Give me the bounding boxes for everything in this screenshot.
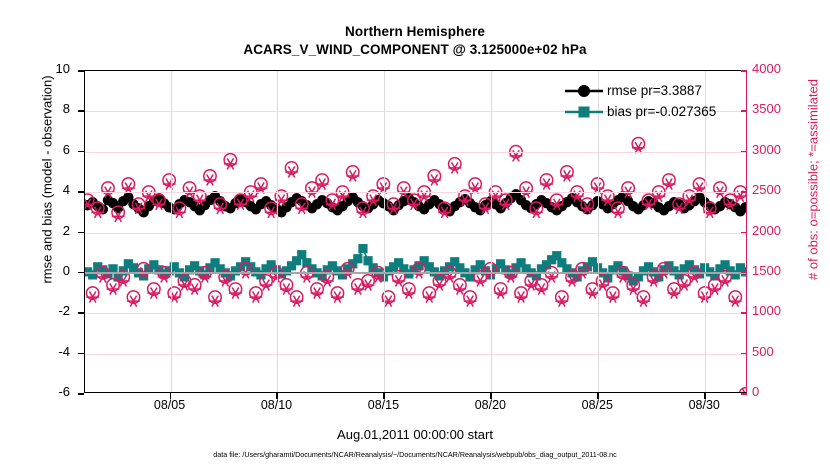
zero-reference-line <box>85 272 746 274</box>
gridline-horizontal <box>85 152 746 153</box>
y-tick-mark-left <box>78 393 84 395</box>
y-tick-label-left: -4 <box>28 344 70 359</box>
x-tick-label: 08/10 <box>246 398 306 412</box>
gridline-horizontal <box>85 313 746 314</box>
y-tick-label-left: 0 <box>28 263 70 278</box>
gridline-vertical <box>491 71 492 392</box>
y-tick-label-left: 6 <box>28 142 70 157</box>
y-axis-label-right: # of obs: o=possible; *=assimilated <box>806 15 821 345</box>
y-tick-mark-right <box>741 70 747 72</box>
y-tick-label-left: -6 <box>28 384 70 399</box>
gridline-vertical <box>171 71 172 392</box>
y-tick-mark-right <box>741 272 747 274</box>
y-tick-mark-left <box>78 70 84 72</box>
y-tick-label-right: 3000 <box>752 142 798 157</box>
x-tick-label: 08/25 <box>567 398 627 412</box>
chart-title-line1: Northern Hemisphere <box>0 24 830 39</box>
chart-legend: rmse pr=3.3887bias pr=-0.027365 <box>563 80 753 122</box>
y-tick-mark-right <box>741 232 747 234</box>
gridline-horizontal <box>85 192 746 193</box>
data-file-path: data file: /Users/gharamti/Documents/NCA… <box>0 450 830 459</box>
legend-label: bias pr=-0.027365 <box>605 104 716 119</box>
gridline-vertical <box>384 71 385 392</box>
gridline-vertical <box>277 71 278 392</box>
y-tick-mark-right <box>741 393 747 395</box>
legend-marker-filled-square <box>563 103 605 121</box>
y-tick-label-right: 2000 <box>752 223 798 238</box>
legend-item-bias[interactable]: bias pr=-0.027365 <box>563 101 753 122</box>
y-tick-mark-left <box>78 272 84 274</box>
x-tick-label: 08/30 <box>674 398 734 412</box>
y-tick-mark-left <box>78 232 84 234</box>
legend-item-rmse[interactable]: rmse pr=3.3887 <box>563 80 753 101</box>
y-tick-label-left: 4 <box>28 182 70 197</box>
y-tick-label-right: 500 <box>752 344 798 359</box>
gridline-horizontal <box>85 233 746 234</box>
y-tick-mark-left <box>78 191 84 193</box>
y-tick-label-right: 1500 <box>752 263 798 278</box>
chart-root: Northern Hemisphere ACARS_V_WIND_COMPONE… <box>0 0 830 470</box>
y-tick-label-left: 8 <box>28 101 70 116</box>
y-tick-mark-right <box>741 353 747 355</box>
y-tick-mark-left <box>78 151 84 153</box>
x-tick-label: 08/15 <box>353 398 413 412</box>
x-axis-caption: Aug.01,2011 00:00:00 start <box>0 427 830 442</box>
x-tick-label: 08/20 <box>460 398 520 412</box>
y-tick-mark-right <box>741 191 747 193</box>
y-tick-label-left: 2 <box>28 223 70 238</box>
y-tick-label-right: 0 <box>752 384 798 399</box>
y-tick-label-left: -2 <box>28 303 70 318</box>
y-tick-mark-left <box>78 353 84 355</box>
y-tick-label-right: 1000 <box>752 303 798 318</box>
y-tick-mark-right <box>741 151 747 153</box>
y-tick-mark-left <box>78 110 84 112</box>
legend-marker-filled-circle <box>563 82 605 100</box>
x-tick-label: 08/05 <box>140 398 200 412</box>
gridline-horizontal <box>85 354 746 355</box>
y-tick-mark-right <box>741 312 747 314</box>
y-tick-label-right: 3500 <box>752 101 798 116</box>
y-tick-label-right: 4000 <box>752 61 798 76</box>
y-tick-label-right: 2500 <box>752 182 798 197</box>
legend-label: rmse pr=3.3887 <box>605 83 702 98</box>
y-tick-mark-left <box>78 312 84 314</box>
chart-title-line2: ACARS_V_WIND_COMPONENT @ 3.125000e+02 hP… <box>0 42 830 57</box>
y-tick-label-left: 10 <box>28 61 70 76</box>
